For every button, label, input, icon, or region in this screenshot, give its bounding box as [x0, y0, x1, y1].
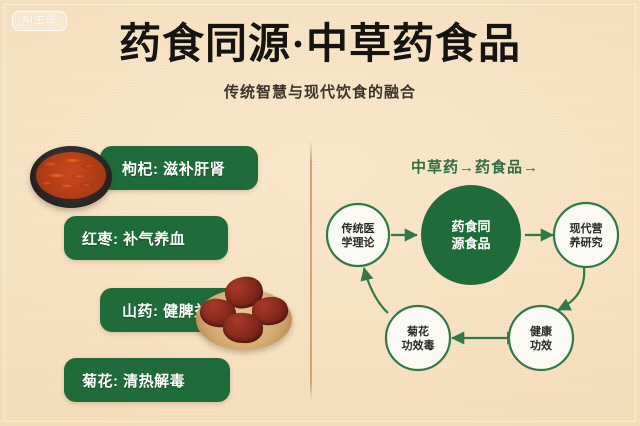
flow-node-label: 传统医 [341, 221, 375, 235]
flow-node-label: 功效 [530, 338, 553, 352]
ingredient-label: 红枣: 补气养血 [82, 228, 185, 249]
flow-node-label: 源食品 [451, 236, 490, 251]
ingredient-pill[interactable]: 枸杞: 滋补肝肾 [100, 146, 258, 190]
ingredient-pill[interactable]: 菊花: 清热解毒 [64, 358, 230, 402]
list-item[interactable]: 枸杞: 滋补肝肾 [0, 146, 300, 208]
arrow-nutrition-to-efficacy [558, 267, 584, 310]
page-subtitle: 传统智慧与现代饮食的融合 [0, 81, 640, 102]
flow-node-center[interactable]: 药食同 源食品 [421, 185, 521, 285]
arrow-chrysanthemum-to-theory [364, 268, 388, 313]
flow-diagram-panel: 中草药→药食品→ 传统医 学理论 [310, 132, 640, 426]
list-item[interactable]: 菊花: 清热解毒 [0, 358, 300, 420]
ingredient-label: 菊花: 清热解毒 [82, 370, 185, 391]
poster-canvas: AI生成 药食同源·中草药食品 传统智慧与现代饮食的融合 枸杞: 滋补肝肾 红枣… [0, 0, 640, 426]
flow-node-label: 现代营 [570, 221, 603, 235]
flow-node-chrysanthemum[interactable]: 菊花 功效毒 [386, 306, 450, 370]
list-item[interactable]: 红枣: 补气养血 [0, 216, 300, 278]
flow-node-theory[interactable]: 传统医 学理论 [327, 204, 389, 266]
header-block: 药食同源·中草药食品 传统智慧与现代饮食的融合 [0, 22, 640, 102]
flow-heading: 中草药→药食品→ [310, 156, 640, 177]
red-dates-tray-photo [196, 272, 292, 350]
flow-node-efficacy[interactable]: 健康 功效 [509, 306, 573, 370]
goji-berries-bowl-photo [30, 146, 112, 208]
flow-node-label: 学理论 [342, 235, 376, 249]
flow-node-label: 健康 [530, 324, 553, 338]
ingredient-label: 枸杞: 滋补肝肾 [122, 158, 225, 179]
ingredient-pill[interactable]: 红枣: 补气养血 [64, 216, 228, 260]
flow-node-label: 养研究 [569, 235, 603, 249]
flow-node-label: 功效毒 [402, 338, 435, 352]
flow-node-nutrition[interactable]: 现代营 养研究 [554, 203, 618, 267]
ingredient-list: 枸杞: 滋补肝肾 红枣: 补气养血 山药: 健脾益胃 [0, 132, 310, 426]
flow-node-label: 菊花 [407, 324, 429, 338]
goji-berries-shape [36, 152, 107, 199]
flow-diagram: 传统医 学理论 药食同 源食品 现代营 养研究 健康 功效 [310, 180, 640, 380]
page-title: 药食同源·中草药食品 [0, 22, 640, 69]
flow-node-label: 药食同 [451, 219, 490, 234]
